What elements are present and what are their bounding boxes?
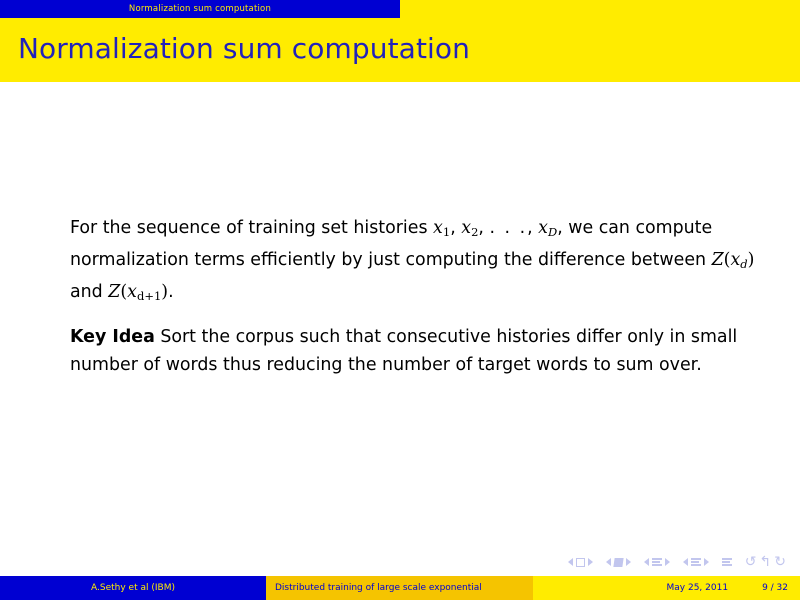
math-x-D: x xyxy=(538,218,548,238)
math-separator-3: , xyxy=(527,218,538,238)
content-block: For the sequence of training set histori… xyxy=(70,214,770,388)
subsection-current-icon[interactable] xyxy=(652,558,662,566)
paragraph-intro: For the sequence of training set histori… xyxy=(70,214,770,311)
footer-page-number: 9 / 32 xyxy=(762,583,788,593)
frame-next-icon[interactable] xyxy=(626,558,631,566)
history-navigation-group[interactable]: ↺ ↰ ↻ xyxy=(745,555,786,569)
math-x-2: x xyxy=(461,218,471,238)
footer-short-title: Distributed training of large scale expo… xyxy=(266,576,533,600)
frame-title-band: Normalization sum computation xyxy=(0,18,800,82)
slide-previous-icon[interactable] xyxy=(568,558,573,566)
beamer-navigation-symbols[interactable]: ↺ ↰ ↻ xyxy=(568,552,786,572)
subsection-navigation-group[interactable] xyxy=(644,558,670,566)
intro-text-part-4: . xyxy=(168,282,174,302)
footline: A.Sethy et al (IBM) Distributed training… xyxy=(0,576,800,600)
math-Z-2: Z xyxy=(108,282,120,302)
section-previous-icon[interactable] xyxy=(683,558,688,566)
intro-text-part-1: For the sequence of training set histori… xyxy=(70,218,433,238)
math-x-d-subscript: d xyxy=(740,257,747,271)
page-title: Normalization sum computation xyxy=(18,32,470,65)
math-x-1: x xyxy=(433,218,443,238)
math-x-d: x xyxy=(730,250,740,270)
subsection-next-icon[interactable] xyxy=(665,558,670,566)
footer-date: May 25, 2011 xyxy=(667,583,729,593)
math-ellipsis: . . . xyxy=(489,218,527,238)
math-Z-1: Z xyxy=(712,250,724,270)
frame-current-icon[interactable] xyxy=(613,558,623,567)
frame-previous-icon[interactable] xyxy=(606,558,611,566)
subsection-previous-icon[interactable] xyxy=(644,558,649,566)
paragraph-key-idea: Key Idea Sort the corpus such that conse… xyxy=(70,323,770,379)
slide-current-icon[interactable] xyxy=(576,558,585,567)
back-icon[interactable]: ↺ xyxy=(745,555,757,569)
section-navigation-group[interactable] xyxy=(683,558,709,566)
section-next-icon[interactable] xyxy=(704,558,709,566)
slide-body: For the sequence of training set histori… xyxy=(0,82,800,548)
forward-icon[interactable]: ↻ xyxy=(774,555,786,569)
slide-navigation-group[interactable] xyxy=(568,558,593,567)
frame-navigation-group[interactable] xyxy=(606,558,631,567)
math-separator-1: , xyxy=(450,218,461,238)
back-back-icon[interactable]: ↰ xyxy=(760,555,772,569)
math-x-D-subscript: D xyxy=(548,225,557,239)
math-x-d-plus-1: x xyxy=(127,282,137,302)
headline-bar: Normalization sum computation xyxy=(0,0,800,18)
slide-next-icon[interactable] xyxy=(588,558,593,566)
math-paren-close-1: ) xyxy=(748,250,755,270)
section-current-icon[interactable] xyxy=(691,558,701,566)
footer-meta: May 25, 2011 9 / 32 xyxy=(533,576,800,600)
presentation-icon[interactable] xyxy=(722,558,732,566)
key-idea-lead: Key Idea xyxy=(70,327,155,347)
footer-author: A.Sethy et al (IBM) xyxy=(0,576,266,600)
math-separator-2: , xyxy=(478,218,489,238)
math-x-d-plus-1-subscript: d+1 xyxy=(137,290,161,304)
intro-text-part-3: and xyxy=(70,282,108,302)
key-idea-text: Sort the corpus such that consecutive hi… xyxy=(70,327,737,375)
section-nav-label: Normalization sum computation xyxy=(0,0,400,18)
